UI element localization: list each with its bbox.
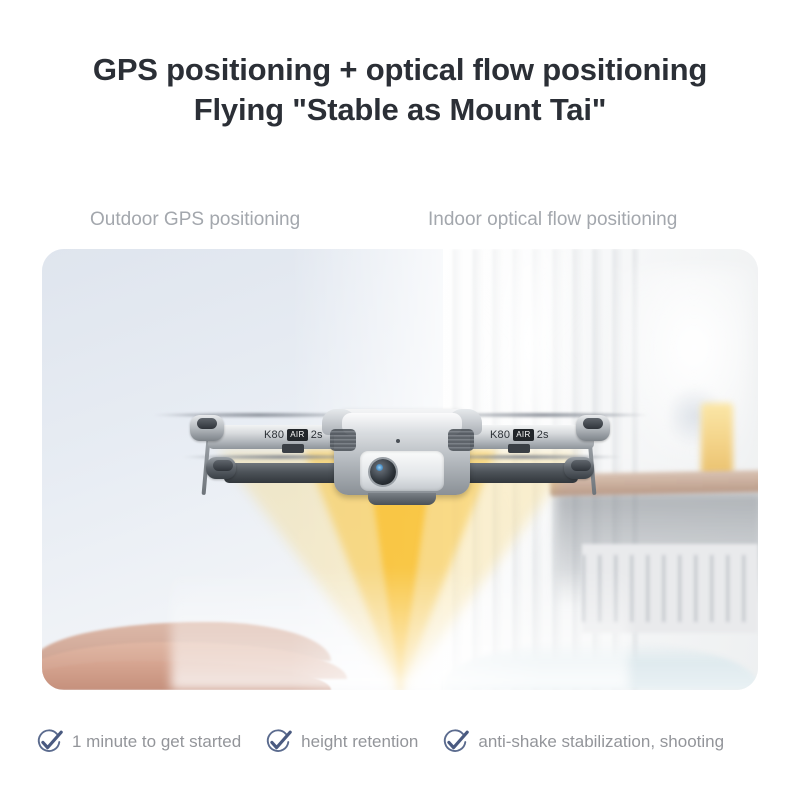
camera-housing xyxy=(360,451,444,491)
page-title-line-2: Flying "Stable as Mount Tai" xyxy=(0,90,800,130)
model-badge-right: AIR xyxy=(513,429,534,441)
status-led xyxy=(396,439,400,443)
page-title: GPS positioning + optical flow positioni… xyxy=(0,50,800,130)
motor-front-left xyxy=(190,415,224,441)
drone-fuselage xyxy=(334,409,470,495)
check-circle-icon xyxy=(263,727,293,757)
model-suffix-right: 2s xyxy=(537,429,549,441)
motor-cap xyxy=(583,418,603,429)
scene-label-indoor: Indoor optical flow positioning xyxy=(428,205,677,235)
check-circle-icon xyxy=(34,727,64,757)
vent-grille-right xyxy=(448,429,474,451)
arm-vent-right xyxy=(508,444,530,453)
table-cup xyxy=(701,403,733,478)
camera-lens xyxy=(370,459,396,485)
hero-image-panel: K80 AIR 2s K80 AIR 2s xyxy=(42,249,758,690)
feature-list: 1 minute to get started height retention… xyxy=(34,718,794,766)
model-suffix-left: 2s xyxy=(311,429,323,441)
motor-front-right xyxy=(576,415,610,441)
motor-rear-right xyxy=(564,457,594,479)
feature-label: anti-shake stabilization, shooting xyxy=(478,731,724,753)
check-circle-icon xyxy=(440,727,470,757)
feature-item: 1 minute to get started xyxy=(34,727,241,757)
feature-item: height retention xyxy=(263,727,418,757)
feature-label: 1 minute to get started xyxy=(72,731,241,753)
model-prefix-right: K80 xyxy=(490,429,510,441)
motor-cap xyxy=(571,460,591,471)
model-label-right: K80 AIR 2s xyxy=(490,429,549,441)
page-title-line-1: GPS positioning + optical flow positioni… xyxy=(0,50,800,90)
fuselage-underside xyxy=(368,493,436,505)
scene-label-outdoor: Outdoor GPS positioning xyxy=(90,205,300,235)
model-badge-left: AIR xyxy=(287,429,308,441)
vent-grille-left xyxy=(330,429,356,451)
feature-label: height retention xyxy=(301,731,418,753)
scene-labels: Outdoor GPS positioning Indoor optical f… xyxy=(42,205,758,239)
arm-vent-left xyxy=(282,444,304,453)
sensor-beam-fade xyxy=(171,567,629,690)
model-label-left: K80 AIR 2s xyxy=(264,429,323,441)
drone: K80 AIR 2s K80 AIR 2s xyxy=(160,399,640,529)
feature-item: anti-shake stabilization, shooting xyxy=(440,727,724,757)
motor-cap xyxy=(213,460,233,471)
lens-glint xyxy=(376,464,383,471)
motor-cap xyxy=(197,418,217,429)
model-prefix-left: K80 xyxy=(264,429,284,441)
motor-rear-left xyxy=(206,457,236,479)
fuselage-top-panel xyxy=(342,413,462,435)
